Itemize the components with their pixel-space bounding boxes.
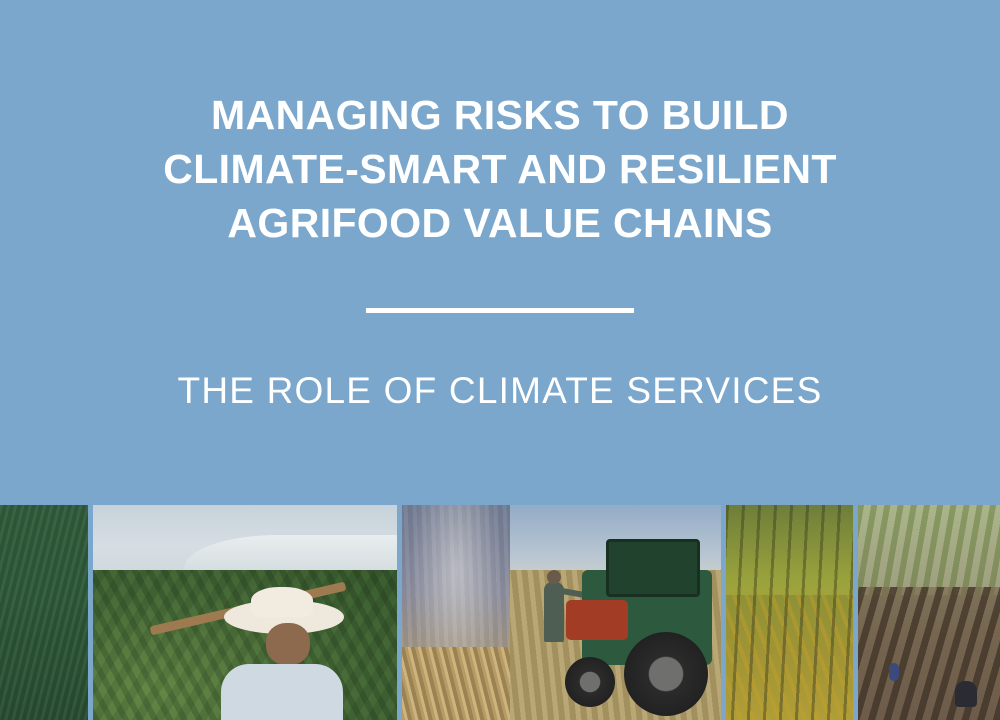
farmer-face [266,623,310,665]
seedling-beds [858,587,1000,720]
straw-pile [402,647,510,720]
tractor-hood [566,600,628,640]
page-subtitle: THE ROLE OF CLIMATE SERVICES [178,313,823,412]
tractor-front-wheel [565,657,615,707]
farmer-shirt [221,664,343,720]
tree-nursery-photo [858,505,1000,720]
page-title: MANAGING RISKS TO BUILD CLIMATE-SMART AN… [163,88,837,250]
farmer-with-hoe-photo [93,505,397,720]
green-field-photo [0,505,88,720]
plantation-rows-photo [726,505,853,720]
title-line-1: MANAGING RISKS TO BUILD [163,88,837,142]
dusty-threshing-photo [402,505,510,720]
title-block: MANAGING RISKS TO BUILD CLIMATE-SMART AN… [0,0,1000,500]
straw-hat-crown [251,587,313,617]
report-cover: MANAGING RISKS TO BUILD CLIMATE-SMART AN… [0,0,1000,720]
nursery-worker-background [889,663,899,681]
tractor-photo [510,505,721,720]
nursery-worker-foreground [955,681,977,707]
tractor-rear-wheel [624,632,708,716]
tree-trunks [726,505,853,720]
photo-strip [0,505,1000,720]
tree-canopy [858,505,1000,595]
title-line-2: CLIMATE-SMART AND RESILIENT [163,142,837,196]
title-line-3: AGRIFOOD VALUE CHAINS [163,196,837,250]
tractor-cab [606,539,700,597]
